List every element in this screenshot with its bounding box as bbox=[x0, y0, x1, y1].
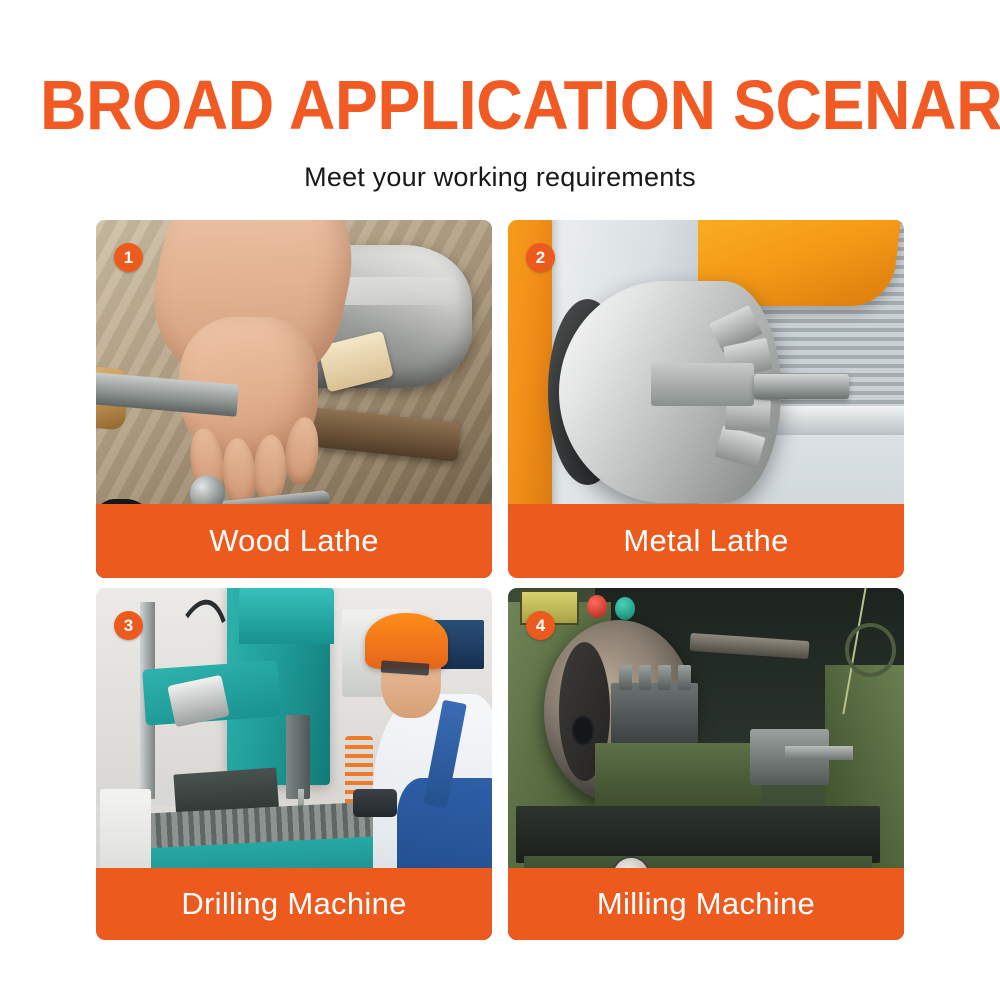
scenario-card-grid: 1 Wood Lathe 2 Metal Lathe bbox=[96, 220, 904, 940]
machine-bed-shape bbox=[516, 806, 880, 862]
tool-post-bolt-shape bbox=[639, 665, 652, 690]
tool-post-bolt-shape bbox=[678, 665, 691, 690]
round-bar-stock-shape bbox=[754, 374, 849, 399]
card-number-badge: 3 bbox=[114, 611, 143, 640]
scenario-card-wood-lathe[interactable]: 1 Wood Lathe bbox=[96, 220, 492, 578]
tool-post-bolt-shape bbox=[619, 665, 632, 690]
product-feature-page: BROAD APPLICATION SCENARIOS Meet your wo… bbox=[0, 0, 1000, 1000]
card-label-milling-machine: Milling Machine bbox=[508, 868, 904, 940]
page-subtitle: Meet your working requirements bbox=[0, 160, 1000, 194]
tailstock-quill-shape bbox=[785, 746, 852, 760]
tool-post-bolt-shape bbox=[658, 665, 671, 690]
chuck-center-jaw-shape bbox=[651, 363, 754, 406]
page-title: BROAD APPLICATION SCENARIOS bbox=[40, 68, 960, 142]
tool-post-shape bbox=[611, 683, 698, 743]
scenario-card-metal-lathe[interactable]: 2 Metal Lathe bbox=[508, 220, 904, 578]
card-number-badge: 1 bbox=[114, 243, 143, 272]
card-label-metal-lathe: Metal Lathe bbox=[508, 504, 904, 578]
drill-head-shape bbox=[239, 588, 334, 644]
drill-quill-shape bbox=[286, 715, 310, 799]
scenario-card-milling-machine[interactable]: 4 Milling Machine bbox=[508, 588, 904, 940]
card-number-badge: 4 bbox=[526, 611, 555, 640]
carriage-shape bbox=[595, 743, 761, 813]
card-label-drilling-machine: Drilling Machine bbox=[96, 868, 492, 940]
orange-hard-hat-shape bbox=[365, 613, 448, 669]
scenario-card-drilling-machine[interactable]: 3 Drilling Machine bbox=[96, 588, 492, 940]
worker-glove-shape bbox=[353, 789, 397, 817]
emergency-stop-button-shape bbox=[587, 595, 607, 618]
start-button-shape bbox=[615, 597, 635, 620]
card-number-badge: 2 bbox=[526, 243, 555, 272]
hand-wheel-shape bbox=[845, 623, 897, 677]
card-label-wood-lathe: Wood Lathe bbox=[96, 504, 492, 578]
